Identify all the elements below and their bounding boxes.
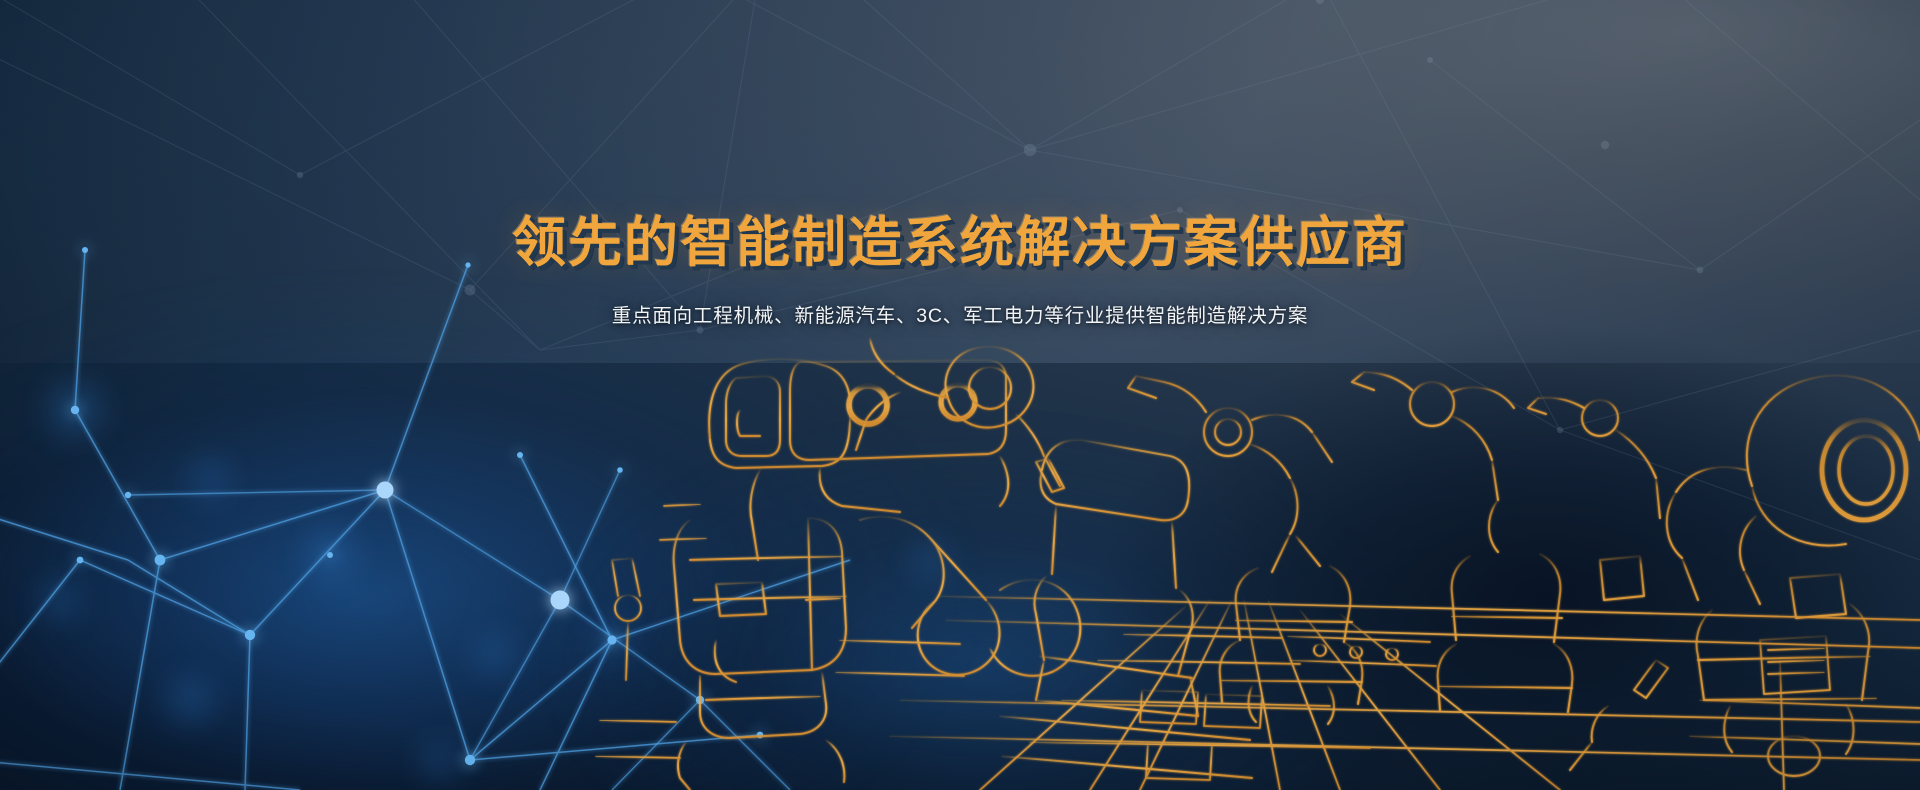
hero-banner: 领先的智能制造系统解决方案供应商 重点面向工程机械、新能源汽车、3C、军工电力等… bbox=[0, 0, 1920, 790]
industrial-robot-lineart bbox=[0, 0, 1920, 790]
